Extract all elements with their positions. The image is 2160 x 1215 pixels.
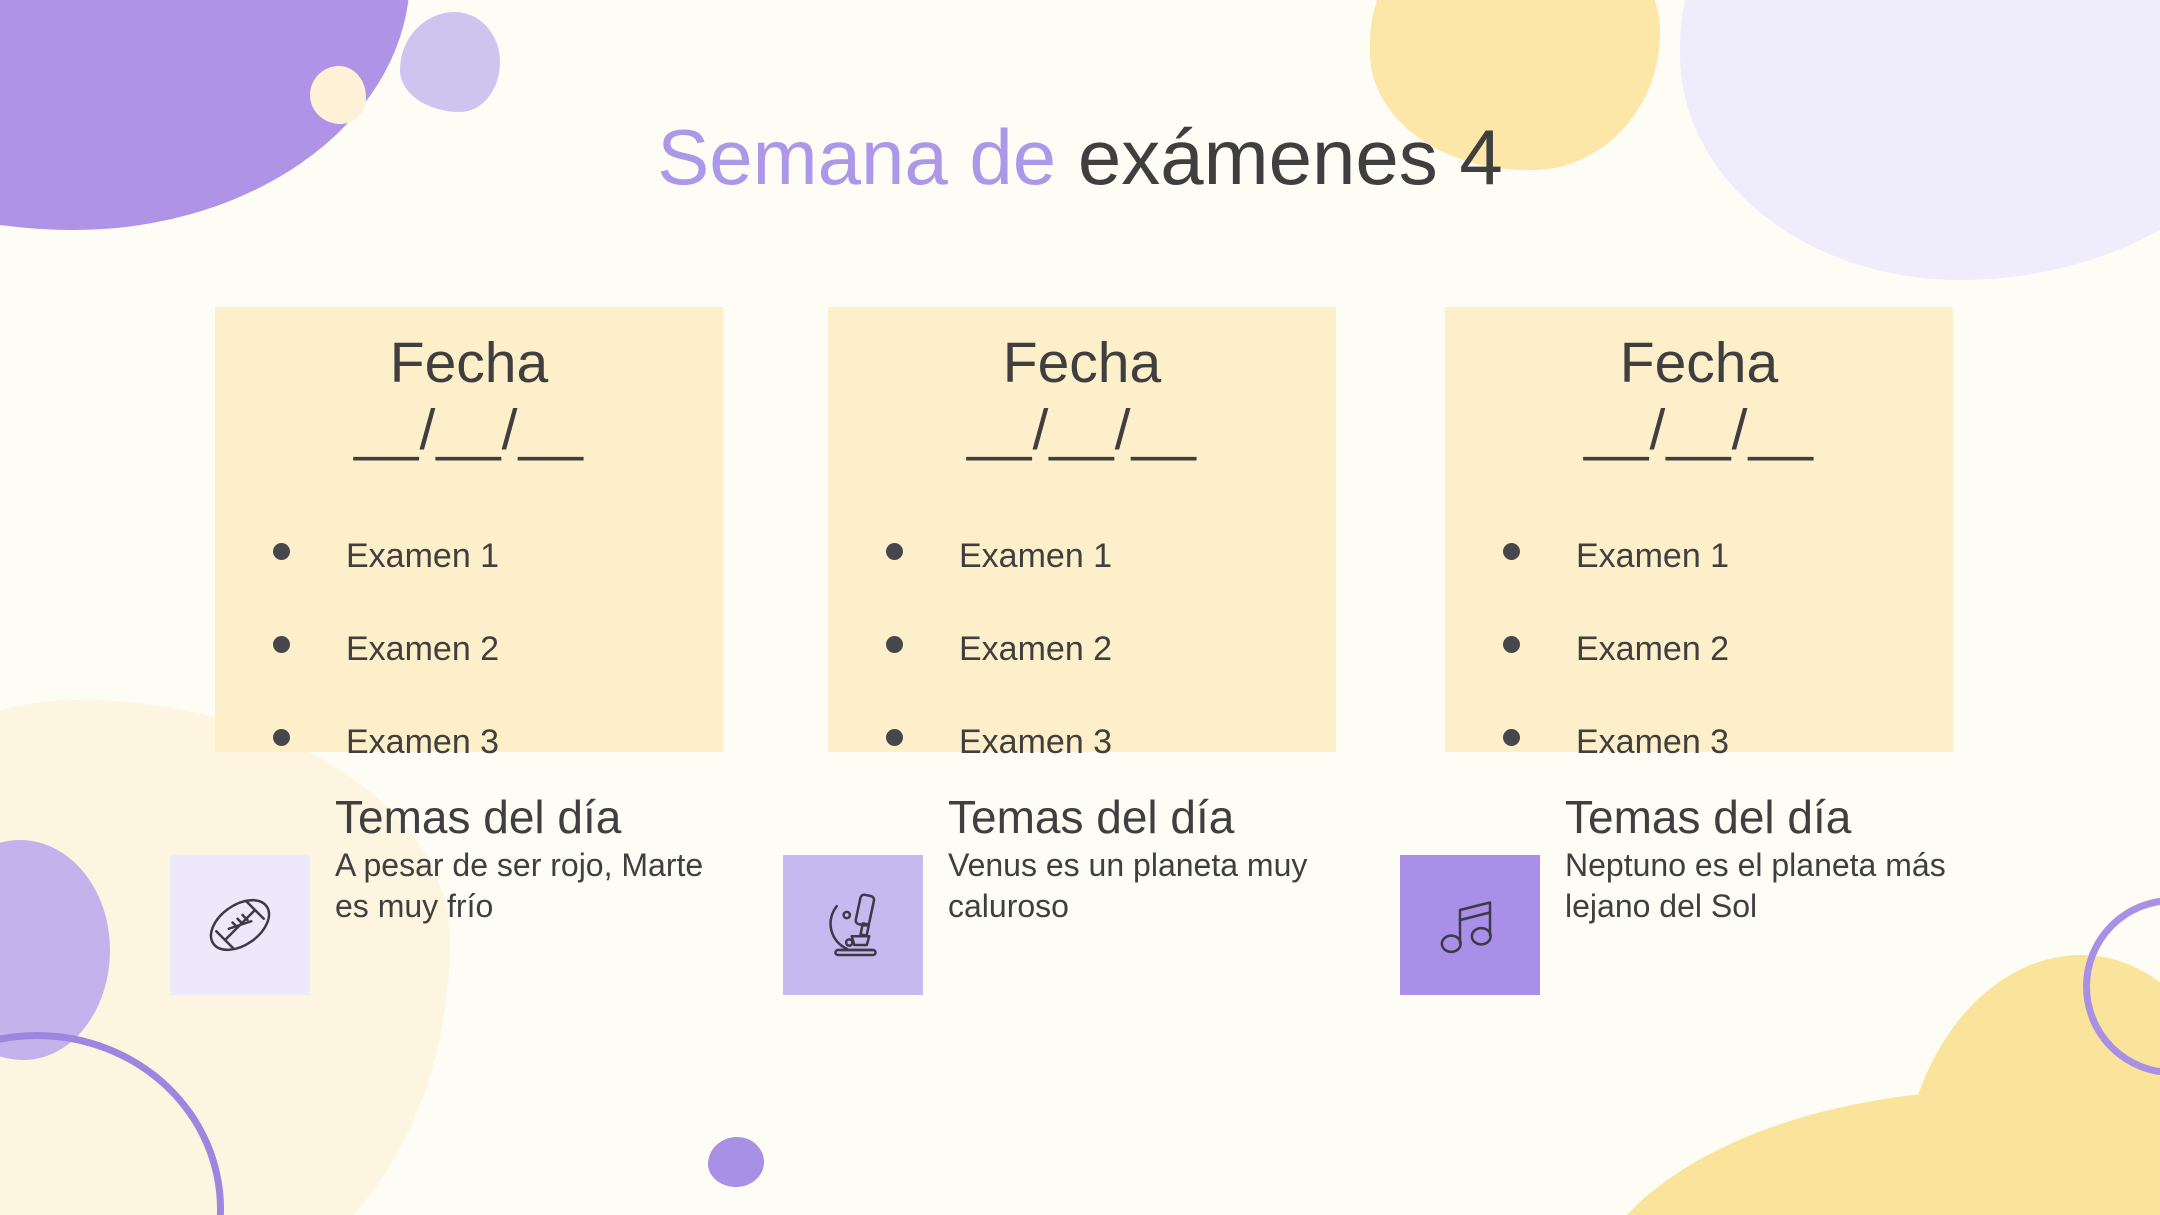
exam-label: Examen 1 [1576, 537, 1729, 575]
list-item[interactable]: Examen 2 [1445, 632, 2005, 725]
list-item[interactable]: Examen 1 [828, 539, 1388, 632]
exam-label: Examen 3 [346, 723, 499, 761]
decor-blob-bottom-right-yellow-2 [1900, 955, 2160, 1215]
decor-circle-bottom-right-purple [2083, 897, 2160, 1076]
exam-label: Examen 2 [1576, 630, 1729, 668]
date-heading-label-3: Fecha [1620, 331, 1778, 395]
microscope-icon-box[interactable] [783, 855, 923, 995]
decor-blob-top-left-lavender [400, 12, 500, 112]
list-item[interactable]: Examen 2 [215, 632, 775, 725]
topic-body-3: Neptuno es el planeta más lejano del Sol [1565, 845, 1975, 927]
date-heading-label-2: Fecha [1003, 331, 1161, 395]
topic-body-2: Venus es un planeta muy caluroso [948, 845, 1358, 927]
date-line-2[interactable]: __/__/__ [828, 397, 1336, 464]
topic-heading-1: Temas del día [335, 793, 745, 843]
football-icon [200, 885, 280, 965]
decor-dot-bottom-center-purple [708, 1137, 764, 1187]
page-title-main: exámenes 4 [1078, 113, 1503, 201]
exam-label: Examen 1 [346, 537, 499, 575]
page-title-accent: Semana de [657, 113, 1078, 201]
date-heading-1: Fecha __/__/__ [215, 330, 723, 465]
football-icon-box[interactable] [170, 855, 310, 995]
date-heading-3: Fecha __/__/__ [1445, 330, 1953, 465]
topic-heading-3: Temas del día [1565, 793, 1975, 843]
topic-text-2: Temas del día Venus es un planeta muy ca… [948, 793, 1358, 927]
exam-label: Examen 1 [959, 537, 1112, 575]
date-line-3[interactable]: __/__/__ [1445, 397, 1953, 464]
list-item[interactable]: Examen 2 [828, 632, 1388, 725]
exam-list-2: Examen 1 Examen 2 Examen 3 [828, 539, 1388, 818]
music-note-icon [1430, 885, 1510, 965]
exam-label: Examen 2 [346, 630, 499, 668]
decor-curve-bottom-left-purple [0, 1032, 224, 1215]
topic-text-3: Temas del día Neptuno es el planeta más … [1565, 793, 1975, 927]
exam-list-3: Examen 1 Examen 2 Examen 3 [1445, 539, 2005, 818]
exam-label: Examen 3 [959, 723, 1112, 761]
topic-body-1: A pesar de ser rojo, Marte es muy frío [335, 845, 745, 927]
slide-canvas: Semana de exámenes 4 Fecha __/__/__ Exam… [0, 0, 2160, 1215]
date-heading-label-1: Fecha [390, 331, 548, 395]
decor-dot-top-left-cream [310, 66, 366, 124]
exam-label: Examen 3 [1576, 723, 1729, 761]
topic-text-1: Temas del día A pesar de ser rojo, Marte… [335, 793, 745, 927]
decor-blob-left-purple [0, 840, 110, 1060]
date-heading-2: Fecha __/__/__ [828, 330, 1336, 465]
list-item[interactable]: Examen 1 [1445, 539, 2005, 632]
list-item[interactable]: Examen 1 [215, 539, 775, 632]
topic-heading-2: Temas del día [948, 793, 1358, 843]
music-note-icon-box[interactable] [1400, 855, 1540, 995]
date-line-1[interactable]: __/__/__ [215, 397, 723, 464]
exam-list-1: Examen 1 Examen 2 Examen 3 [215, 539, 775, 818]
page-title: Semana de exámenes 4 [0, 118, 2160, 196]
microscope-icon [813, 885, 893, 965]
decor-blob-bottom-right-yellow [1580, 1090, 2160, 1215]
exam-label: Examen 2 [959, 630, 1112, 668]
